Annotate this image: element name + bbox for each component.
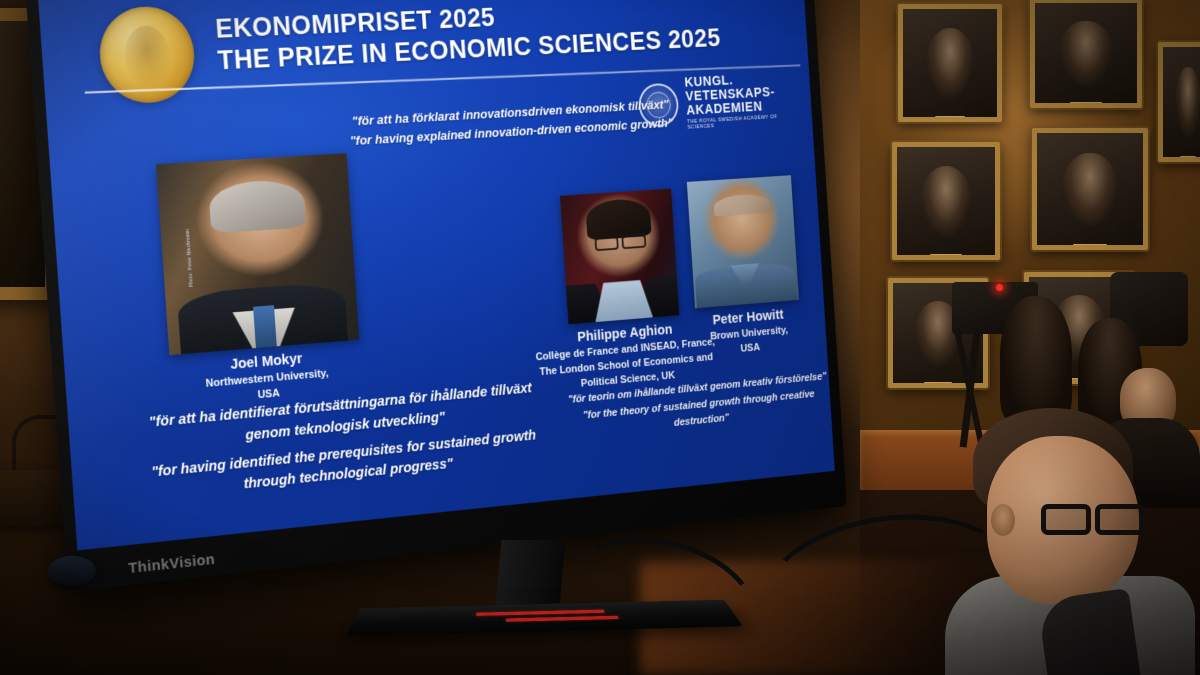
thinkvision-logo: ThinkVision <box>128 551 216 577</box>
thinkvision-monitor: EKONOMIPRISET 2025 THE PRIZE IN ECONOMIC… <box>25 0 847 592</box>
slide-headline: EKONOMIPRISET 2025 THE PRIZE IN ECONOMIC… <box>214 0 722 77</box>
wall-portrait <box>892 142 1000 260</box>
camera-operator <box>1000 296 1072 424</box>
wall-portrait <box>1030 0 1142 108</box>
foreground-attendee <box>955 408 1200 675</box>
press-conference-scene: EKONOMIPRISET 2025 THE PRIZE IN ECONOMIC… <box>0 0 1200 675</box>
laureate-photo <box>687 175 799 308</box>
laureate-photo: Photo: Peter Nieckmann <box>156 153 359 355</box>
desk-object <box>48 556 96 586</box>
monitor-bezel: EKONOMIPRISET 2025 THE PRIZE IN ECONOMIC… <box>25 0 847 592</box>
camera-record-light-icon <box>996 284 1003 291</box>
main-citation: "för att ha förklarat innovationsdriven … <box>298 93 719 155</box>
eyeglasses-icon <box>1041 504 1145 536</box>
laureate-card: Photo: Peter Nieckmann Joel Mokyr Northw… <box>141 152 376 411</box>
wall-portrait <box>1158 42 1200 162</box>
wall-portrait <box>1032 128 1148 250</box>
attendee-ear <box>991 504 1015 536</box>
laureate-card: Peter Howitt Brown University, USA <box>654 173 833 362</box>
wall-portrait <box>898 4 1002 122</box>
monitor-screen: EKONOMIPRISET 2025 THE PRIZE IN ECONOMIC… <box>38 0 835 550</box>
portrait-peter-howitt <box>687 175 799 308</box>
nobel-prize-slide: EKONOMIPRISET 2025 THE PRIZE IN ECONOMIC… <box>38 0 835 550</box>
